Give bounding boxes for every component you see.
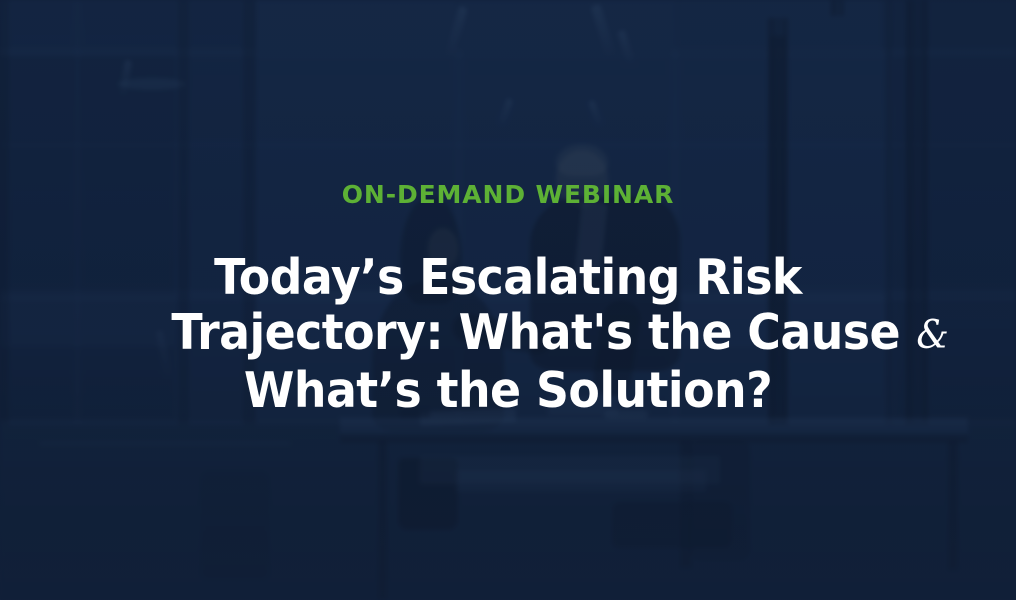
page-title: Today’s Escalating Risk Trajectory: What… bbox=[171, 250, 844, 418]
headline-line-2: Trajectory: What's the Cause & bbox=[171, 305, 844, 363]
headline-line-3: What’s the Solution? bbox=[171, 363, 844, 418]
eyebrow-label: ON-DEMAND WEBINAR bbox=[342, 182, 674, 207]
headline-line-2-text: Trajectory: What's the Cause bbox=[171, 304, 915, 361]
hero-content: ON-DEMAND WEBINAR Today’s Escalating Ris… bbox=[0, 0, 1016, 600]
webinar-hero-banner: ON-DEMAND WEBINAR Today’s Escalating Ris… bbox=[0, 0, 1016, 600]
headline-line-1: Today’s Escalating Risk bbox=[171, 250, 844, 305]
ampersand-glyph: & bbox=[916, 313, 948, 358]
